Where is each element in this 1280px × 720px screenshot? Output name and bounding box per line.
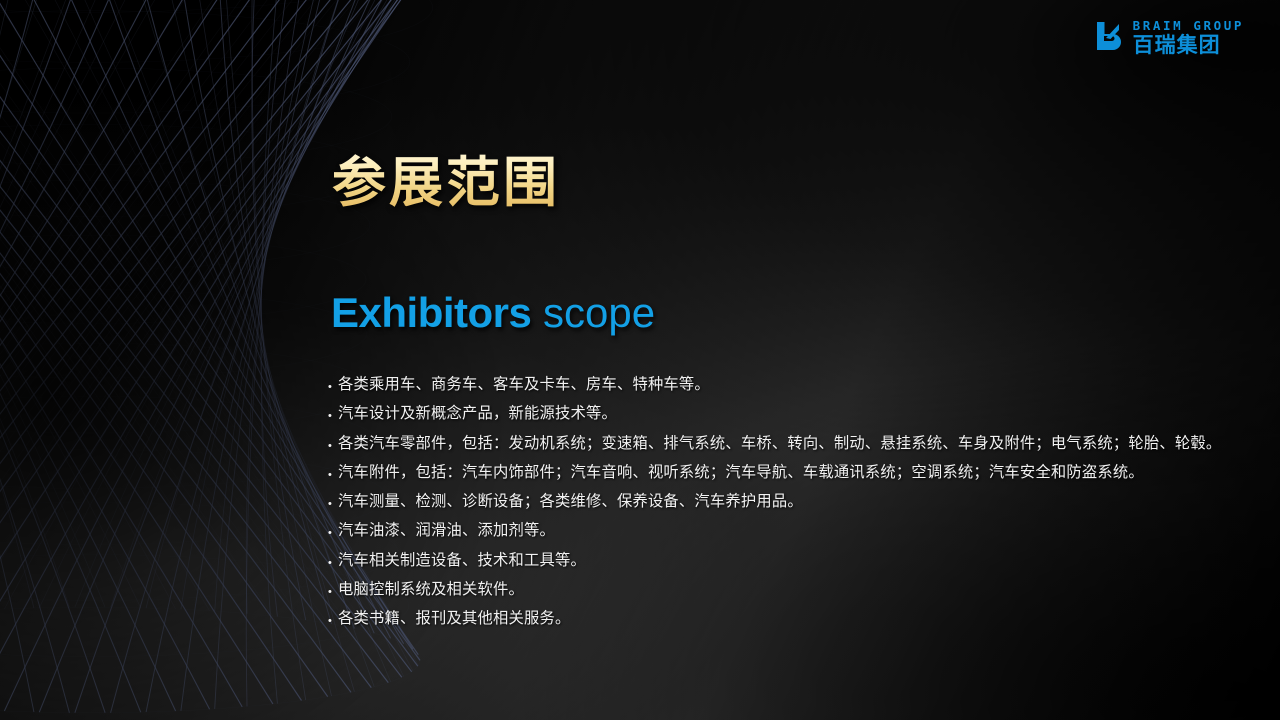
list-item: •汽车设计及新概念产品，新能源技术等。 [328, 402, 1253, 425]
page-subtitle: Exhibitors scope [331, 291, 655, 335]
list-item: •汽车附件，包括：汽车内饰部件；汽车音响、视听系统；汽车导航、车载通讯系统；空调… [328, 461, 1253, 484]
list-item: •各类汽车零部件，包括：发动机系统；变速箱、排气系统、车桥、转向、制动、悬挂系统… [328, 432, 1253, 455]
list-item-label: 各类汽车零部件，包括：发动机系统；变速箱、排气系统、车桥、转向、制动、悬挂系统、… [338, 432, 1221, 455]
list-item-label: 汽车附件，包括：汽车内饰部件；汽车音响、视听系统；汽车导航、车载通讯系统；空调系… [338, 461, 1144, 484]
list-item: •电脑控制系统及相关软件。 [328, 578, 1253, 601]
list-item: •汽车油漆、润滑油、添加剂等。 [328, 519, 1253, 542]
bullet-marker-icon: • [328, 470, 338, 481]
list-item-label: 各类书籍、报刊及其他相关服务。 [338, 607, 570, 630]
list-item-label: 汽车设计及新概念产品，新能源技术等。 [338, 402, 617, 425]
exhibitor-scope-list: •各类乘用车、商务车、客车及卡车、房车、特种车等。•汽车设计及新概念产品，新能源… [328, 373, 1253, 636]
bullet-marker-icon: • [328, 499, 338, 510]
company-logo: BRAIM GROUP 百瑞集团 [1094, 20, 1244, 56]
bullet-marker-icon: • [328, 616, 338, 627]
logo-text-chinese: 百瑞集团 [1133, 35, 1244, 56]
list-item: •各类书籍、报刊及其他相关服务。 [328, 607, 1253, 630]
page-title: 参展范围 [332, 138, 560, 217]
list-item-label: 各类乘用车、商务车、客车及卡车、房车、特种车等。 [338, 373, 710, 396]
bullet-marker-icon: • [328, 528, 338, 539]
bullet-marker-icon: • [328, 441, 338, 452]
list-item: •汽车测量、检测、诊断设备；各类维修、保养设备、汽车养护用品。 [328, 490, 1253, 513]
list-item-label: 汽车测量、检测、诊断设备；各类维修、保养设备、汽车养护用品。 [338, 490, 803, 513]
bullet-marker-icon: • [328, 411, 338, 422]
presentation-slide: BRAIM GROUP 百瑞集团 参展范围 Exhibitors scope •… [0, 0, 1280, 720]
list-item-label: 电脑控制系统及相关软件。 [338, 578, 524, 601]
list-item-label: 汽车油漆、润滑油、添加剂等。 [338, 519, 555, 542]
logo-text-english: BRAIM GROUP [1133, 20, 1244, 33]
subtitle-strong: Exhibitors [331, 289, 531, 336]
braim-b-mark-icon [1094, 21, 1124, 55]
bullet-marker-icon: • [328, 382, 338, 393]
subtitle-light: scope [543, 289, 655, 336]
list-item: •各类乘用车、商务车、客车及卡车、房车、特种车等。 [328, 373, 1253, 396]
logo-wordmark: BRAIM GROUP 百瑞集团 [1133, 20, 1244, 56]
list-item-label: 汽车相关制造设备、技术和工具等。 [338, 549, 586, 572]
bullet-marker-icon: • [328, 558, 338, 569]
list-item: •汽车相关制造设备、技术和工具等。 [328, 549, 1253, 572]
bullet-marker-icon: • [328, 587, 338, 598]
